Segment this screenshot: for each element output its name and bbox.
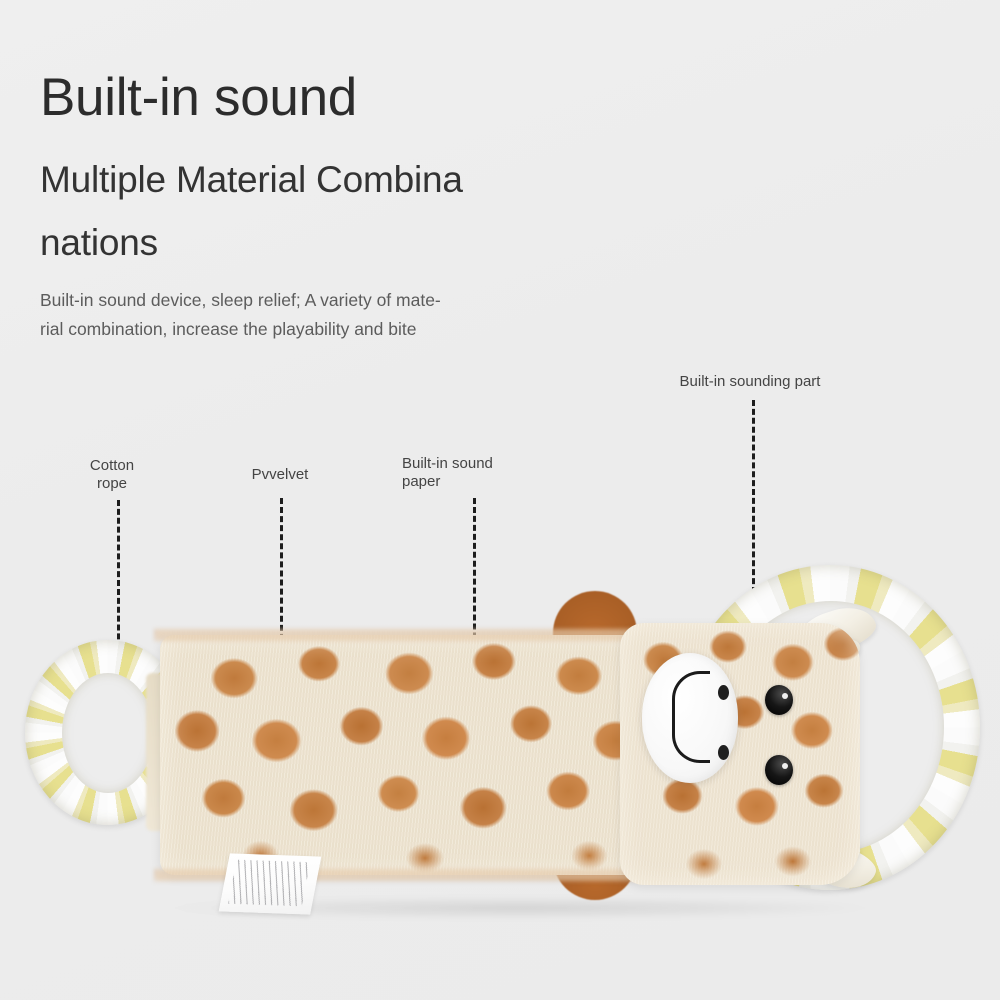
page-subtitle-line2: nations — [40, 211, 560, 274]
callout-sound-paper-line2: paper — [402, 473, 534, 491]
page-title: Built-in sound — [40, 68, 357, 128]
giraffe-eye-right — [765, 755, 793, 785]
page-subtitle-line1: Multiple Material Combina — [40, 148, 540, 211]
callout-cotton-rope-line2: rope — [62, 475, 162, 493]
page-subtitle: Multiple Material Combina nations — [40, 148, 560, 274]
callout-pvvelvet-line1: Pvvelvet — [228, 466, 332, 484]
description-line-2: rial combination, increase the playabili… — [40, 315, 560, 344]
callout-label-cotton-rope: Cotton rope — [62, 457, 162, 493]
care-label-tag — [219, 853, 322, 914]
infographic-canvas: Built-in sound Multiple Material Combina… — [0, 0, 1000, 1000]
cotton-rope-loop-left-hole — [62, 673, 154, 793]
giraffe-mouth-stitch — [672, 671, 710, 763]
callout-label-sound-paper: Built-in sound paper — [402, 455, 534, 491]
product-photo-giraffe-rope-toy — [0, 545, 1000, 945]
callout-sounding-part-line1: Built-in sounding part — [662, 373, 838, 391]
giraffe-nostril-left — [718, 685, 729, 700]
callout-cotton-rope-line1: Cotton — [62, 457, 162, 475]
callout-label-sounding-part: Built-in sounding part — [662, 373, 838, 391]
giraffe-eye-left — [765, 685, 793, 715]
page-description: Built-in sound device, sleep relief; A v… — [40, 286, 560, 344]
description-line-1: Built-in sound device, sleep relief; A v… — [40, 286, 560, 315]
pv-velvet-plush-body — [160, 635, 690, 875]
callout-label-pvvelvet: Pvvelvet — [228, 466, 332, 484]
giraffe-nostril-right — [718, 745, 729, 760]
callout-sound-paper-line1: Built-in sound — [402, 455, 534, 473]
